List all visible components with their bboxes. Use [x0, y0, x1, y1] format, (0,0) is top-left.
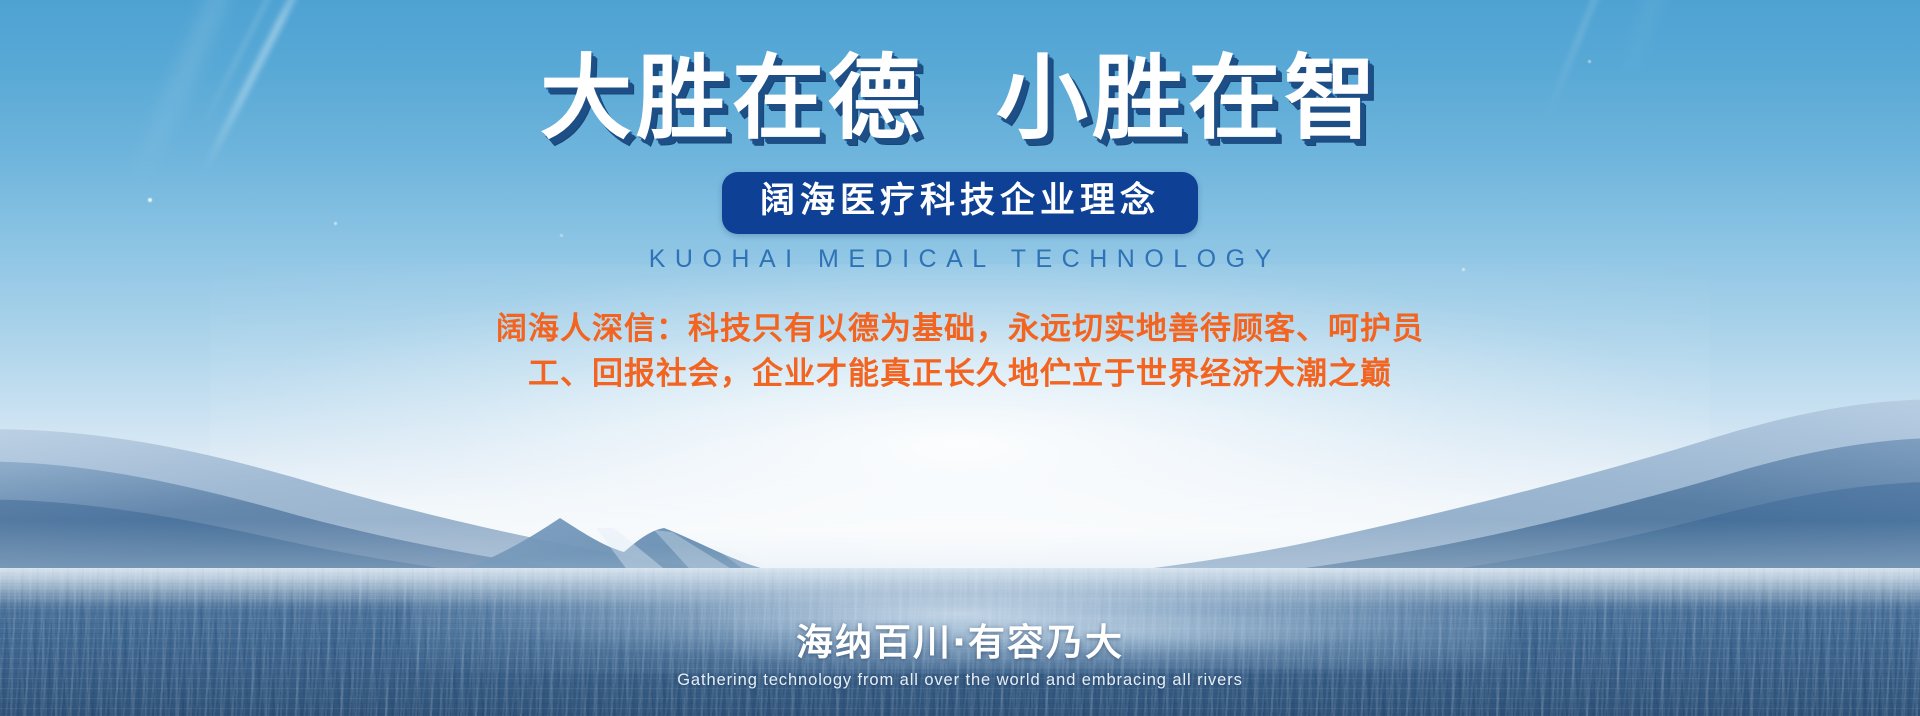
philosophy-line-1: 阔海人深信：科技只有以德为基础，永远切实地善待顾客、呵护员: [496, 307, 1424, 352]
footer-slogan-block: 海纳百川·有容乃大 Gathering technology from all …: [0, 623, 1920, 690]
subtitle-english: KUOHAI MEDICAL TECHNOLOGY: [639, 245, 1281, 274]
philosophy-paragraph: 阔海人深信：科技只有以德为基础，永远切实地善待顾客、呵护员 工、回报社会，企业才…: [496, 307, 1424, 398]
footer-slogan-chinese: 海纳百川·有容乃大: [0, 623, 1920, 664]
status-badge: 阔海医疗科技企业理念: [722, 172, 1198, 234]
page-title: 大胜在德 小胜在智: [540, 52, 1380, 146]
kuohai-medical-banner: 大胜在德 小胜在智 阔海医疗科技企业理念 KUOHAI MEDICAL TECH…: [0, 0, 1920, 716]
philosophy-line-2: 工、回报社会，企业才能真正长久地伫立于世界经济大潮之巅: [496, 352, 1424, 397]
banner-content: 大胜在德 小胜在智 阔海医疗科技企业理念 KUOHAI MEDICAL TECH…: [0, 0, 1920, 716]
footer-slogan-english: Gathering technology from all over the w…: [0, 671, 1920, 690]
